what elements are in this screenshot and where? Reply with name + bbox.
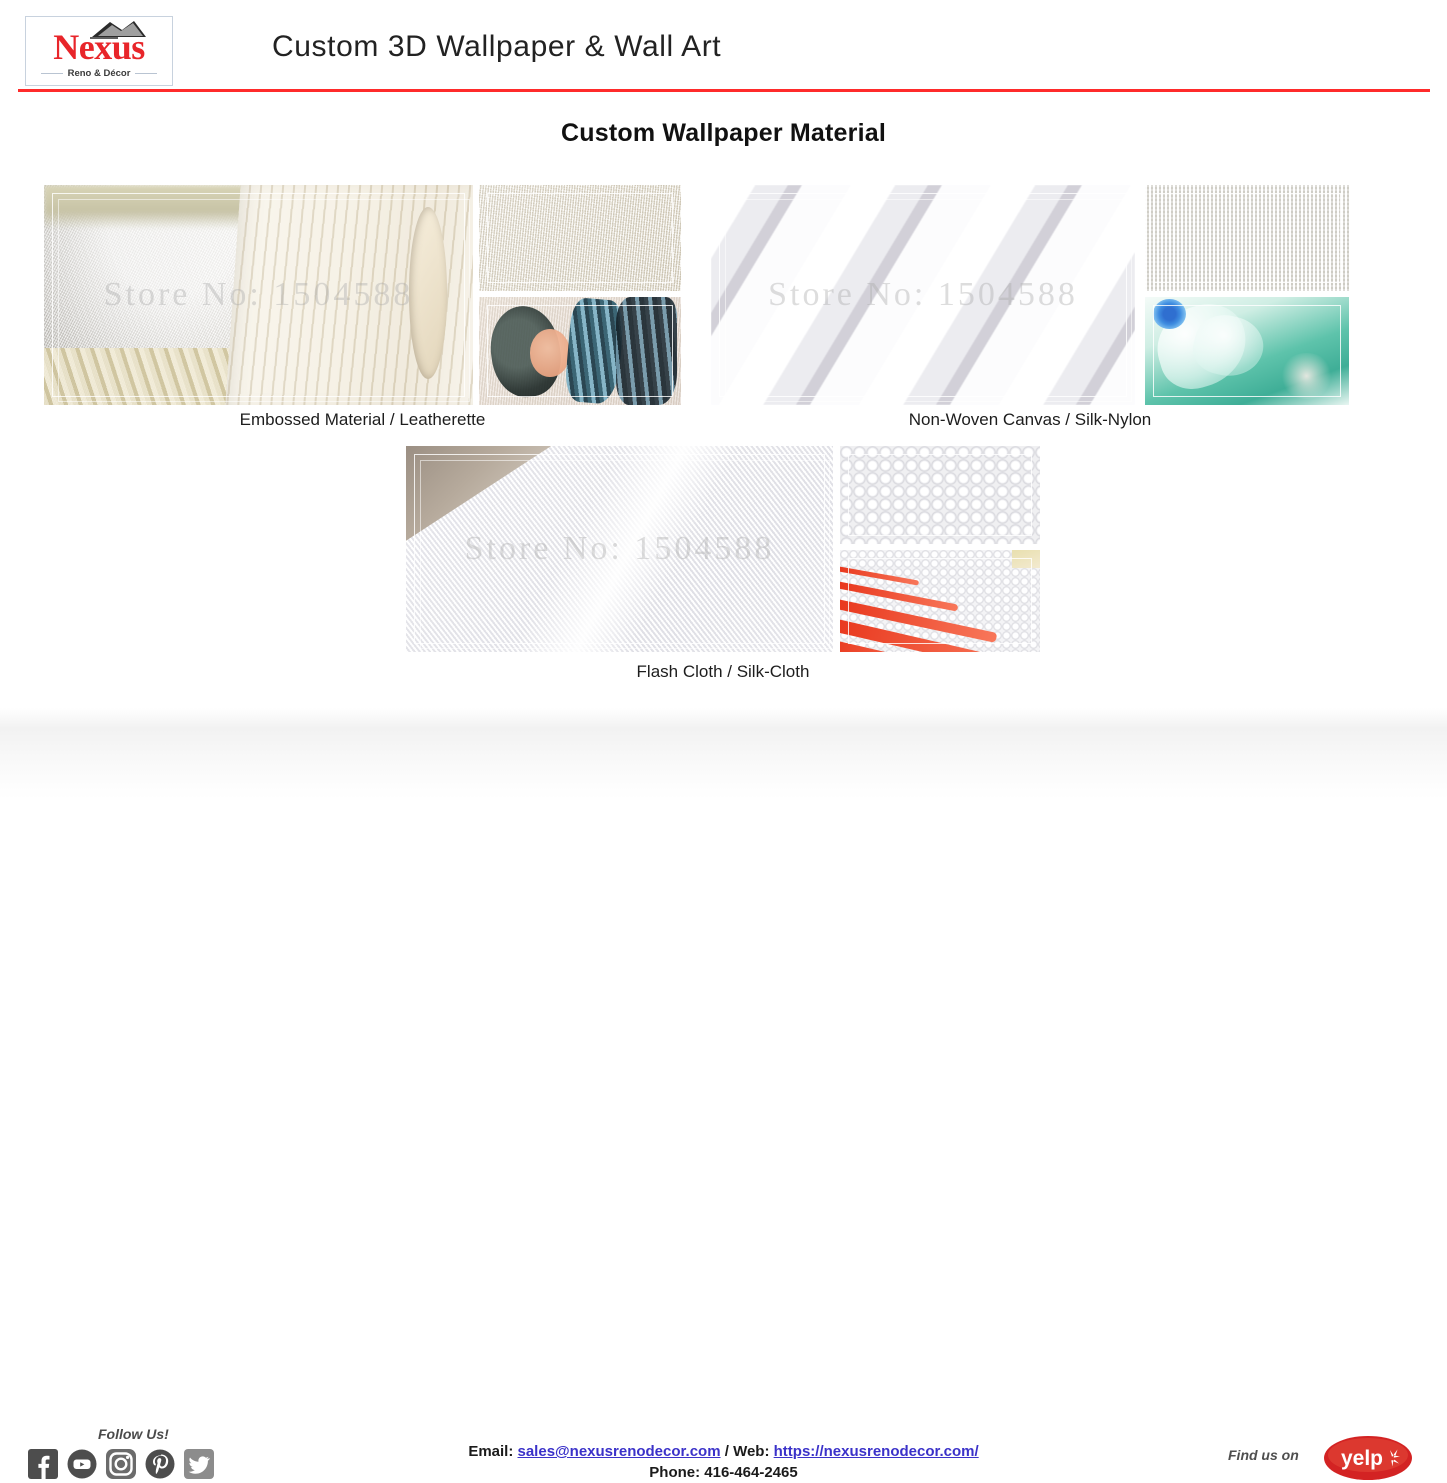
page-title: Custom 3D Wallpaper & Wall Art [272, 30, 721, 64]
red-stripe-1 [840, 566, 919, 586]
find-us-on-label: Find us on [1228, 1447, 1299, 1463]
page-header: Nexus Reno & Décor Custom 3D Wallpaper &… [0, 0, 1447, 92]
floral-highlight [1280, 353, 1333, 398]
follow-us-label: Follow Us! [98, 1426, 169, 1442]
email-label: Email: [468, 1443, 513, 1460]
print-corner-accent [1012, 550, 1040, 568]
flash-cloth-thumb-top[interactable] [840, 446, 1040, 544]
embossed-texture [44, 185, 473, 405]
phone-number: Phone: 416-464-2465 [0, 1462, 1447, 1483]
caption-embossed: Embossed Material / Leatherette [44, 410, 681, 430]
flash-cloth-weave-texture [840, 446, 1040, 544]
mountain-roof-icon [88, 19, 150, 39]
logo-rule-left [41, 73, 63, 74]
yelp-wordmark: yelp [1341, 1447, 1383, 1470]
non-woven-thumb-top[interactable] [1145, 185, 1349, 291]
flash-cloth-texture [406, 446, 833, 652]
email-link[interactable]: sales@nexusrenodecor.com [518, 1443, 721, 1460]
page-footer: Follow Us! Email: sales@nexusrenodecor.c [0, 708, 1447, 800]
embossed-thumb-bottom[interactable] [479, 297, 681, 405]
contact-separator: / Web: [725, 1443, 770, 1460]
mural-shape-d [616, 297, 677, 405]
material-group-non-woven[interactable]: Store No: 1504588 [711, 185, 1349, 405]
red-stripe-print-texture [840, 550, 1040, 652]
non-woven-thumb-bottom[interactable] [1145, 297, 1349, 405]
silk-drape-texture [711, 185, 1135, 405]
embossed-main-image[interactable]: Store No: 1504588 [44, 185, 473, 405]
section-title: Custom Wallpaper Material [0, 119, 1447, 148]
caption-flash-cloth: Flash Cloth / Silk-Cloth [406, 662, 1040, 682]
material-group-embossed[interactable]: Store No: 1504588 [44, 185, 681, 405]
embossed-mural-texture [479, 297, 681, 405]
mural-shape-b [530, 329, 570, 377]
flash-cloth-thumb-bottom[interactable] [840, 550, 1040, 652]
yelp-badge[interactable]: yelp [1322, 1434, 1414, 1482]
material-group-flash-cloth[interactable]: Store No: 1504588 [406, 446, 1040, 652]
website-link[interactable]: https://nexusrenodecor.com/ [774, 1443, 979, 1460]
wallpaper-roll-end [409, 207, 448, 379]
logo-rule-right [135, 73, 157, 74]
embossed-closeup-texture [479, 185, 681, 291]
floral-blue-center [1153, 299, 1186, 329]
flash-cloth-sheen [406, 446, 833, 652]
non-woven-main-image[interactable]: Store No: 1504588 [711, 185, 1135, 405]
floral-print-texture [1145, 297, 1349, 405]
flash-cloth-main-image[interactable]: Store No: 1504588 [406, 446, 833, 652]
brand-logo[interactable]: Nexus Reno & Décor [25, 16, 173, 86]
header-divider [18, 89, 1430, 92]
logo-tagline: Reno & Décor [68, 68, 131, 79]
caption-non-woven: Non-Woven Canvas / Silk-Nylon [711, 410, 1349, 430]
embossed-thumb-top[interactable] [479, 185, 681, 291]
logo-tagline-row: Reno & Décor [33, 68, 165, 79]
woven-canvas-texture [1145, 185, 1349, 291]
